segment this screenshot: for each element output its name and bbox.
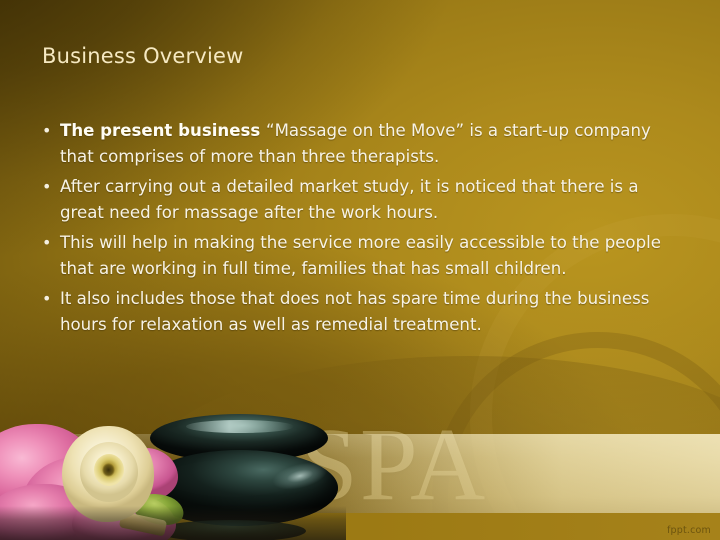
watermark: fppt.com (667, 525, 711, 536)
bullet-bold-prefix: The present business (60, 121, 266, 140)
stone-highlight (186, 420, 294, 433)
bullet-body-text: After carrying out a detailed market stu… (60, 177, 639, 222)
cream-rose-center (94, 454, 124, 486)
bullet-dot-icon: • (38, 118, 60, 144)
bullet-body-text: It also includes those that does not has… (60, 289, 649, 334)
bullet-dot-icon: • (38, 230, 60, 256)
bullet-item: • This will help in making the service m… (38, 230, 684, 282)
bullet-item: • It also includes those that does not h… (38, 286, 684, 338)
bullet-item: • The present business “Massage on the M… (38, 118, 684, 170)
bullet-text: It also includes those that does not has… (60, 286, 684, 338)
bullet-text: The present business “Massage on the Mov… (60, 118, 684, 170)
bullet-text: This will help in making the service mor… (60, 230, 684, 282)
bullet-text: After carrying out a detailed market stu… (60, 174, 684, 226)
spa-photo (0, 398, 346, 540)
slide-title: Business Overview (42, 44, 244, 68)
bullet-item: • After carrying out a detailed market s… (38, 174, 684, 226)
stem-icon (119, 511, 167, 536)
bullet-body-text: This will help in making the service mor… (60, 233, 661, 278)
bullet-dot-icon: • (38, 286, 60, 312)
slide-body: • The present business “Massage on the M… (38, 118, 684, 342)
presentation-slide: SPA Business Overview • The present busi… (0, 0, 720, 540)
bullet-dot-icon: • (38, 174, 60, 200)
spa-stones-icon (156, 520, 306, 540)
